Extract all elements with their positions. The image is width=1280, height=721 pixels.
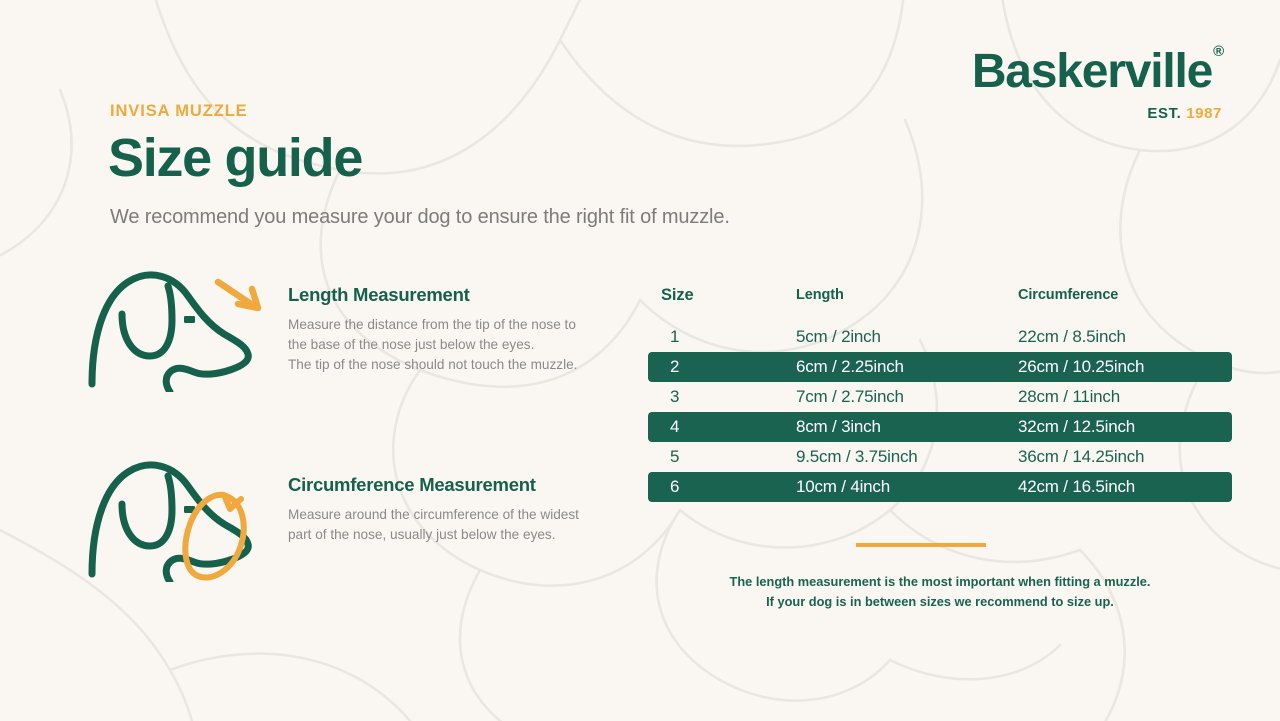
table-cell-text: 6cm / 2.25inch: [796, 357, 904, 376]
measurement-description: Measure the distance from the tip of the…: [288, 315, 633, 375]
table-cell-text: 7cm / 2.75inch: [796, 387, 904, 406]
table-row[interactable]: 2 6cm / 2.25inch 26cm / 10.25inch: [648, 352, 1232, 382]
table-cell-circumference: 32cm / 12.5inch: [1018, 417, 1232, 437]
table-cell-circumference: 36cm / 14.25inch: [1018, 447, 1232, 467]
table-row[interactable]: 4 8cm / 3inch 32cm / 12.5inch: [648, 412, 1232, 442]
measurement-text-circumference: Circumference Measurement Measure around…: [288, 474, 633, 545]
table-cell-text: 5: [670, 447, 679, 466]
table-cell-circumference: 22cm / 8.5inch: [1018, 327, 1232, 347]
table-cell-text: 3: [670, 387, 679, 406]
brand-wordmark-text: Baskerville: [972, 45, 1212, 98]
table-row[interactable]: 6 10cm / 4inch 42cm / 16.5inch: [648, 472, 1232, 502]
table-cell-text: 22cm / 8.5inch: [1018, 327, 1126, 346]
measurement-line: the base of the nose just below the eyes…: [288, 335, 633, 355]
table-cell-text: 28cm / 11inch: [1018, 387, 1120, 406]
table-cell-length: 10cm / 4inch: [796, 477, 1018, 497]
table-cell-text: 4: [670, 417, 679, 436]
footer-divider: [856, 543, 986, 547]
size-table: Size Length Circumference 1 5cm / 2inch …: [648, 282, 1232, 502]
table-cell-text: 5cm / 2inch: [796, 327, 881, 346]
table-cell-length: 7cm / 2.75inch: [796, 387, 1018, 407]
brand-established-year: 1987: [1186, 105, 1222, 122]
table-cell-size: 3: [648, 387, 796, 407]
table-header-cell-circumference: Circumference: [1018, 286, 1232, 304]
table-cell-text: 26cm / 10.25inch: [1018, 357, 1144, 376]
table-cell-text: 8cm / 3inch: [796, 417, 881, 436]
page-title: Size guide: [108, 128, 362, 188]
product-eyebrow: INVISA MUZZLE: [110, 102, 248, 121]
table-header-label: Circumference: [1018, 287, 1118, 303]
measurement-heading: Circumference Measurement: [288, 474, 633, 496]
table-cell-text: 42cm / 16.5inch: [1018, 477, 1135, 496]
table-row[interactable]: 1 5cm / 2inch 22cm / 8.5inch: [648, 322, 1232, 352]
dog-head-arrow-icon: [78, 262, 278, 392]
table-cell-length: 8cm / 3inch: [796, 417, 1018, 437]
brand-wordmark: Baskerville®: [972, 48, 1222, 96]
table-cell-size: 5: [648, 447, 796, 467]
table-row[interactable]: 3 7cm / 2.75inch 28cm / 11inch: [648, 382, 1232, 412]
table-cell-text: 1: [670, 327, 679, 346]
table-cell-circumference: 28cm / 11inch: [1018, 387, 1232, 407]
dog-eye-icon: [184, 316, 195, 323]
table-cell-size: 6: [648, 477, 796, 497]
measurement-text-length: Length Measurement Measure the distance …: [288, 284, 633, 375]
footer-note-line: If your dog is in between sizes we recom…: [640, 592, 1240, 612]
dog-head-loop-icon: [78, 452, 278, 582]
table-cell-size: 2: [648, 357, 796, 377]
page-subtitle: We recommend you measure your dog to ens…: [110, 206, 730, 229]
table-cell-circumference: 42cm / 16.5inch: [1018, 477, 1232, 497]
length-arrow-icon: [218, 282, 258, 308]
measurement-line: part of the nose, usually just below the…: [288, 525, 633, 545]
measurement-line: Measure the distance from the tip of the…: [288, 315, 633, 335]
table-header-cell-length: Length: [796, 286, 1018, 304]
measurement-heading: Length Measurement: [288, 284, 633, 306]
table-header-label: Size: [661, 286, 694, 304]
measurement-description: Measure around the circumference of the …: [288, 505, 633, 545]
table-cell-length: 9.5cm / 3.75inch: [796, 447, 1018, 467]
table-cell-text: 10cm / 4inch: [796, 477, 890, 496]
brand-established-prefix: EST.: [1147, 105, 1186, 122]
table-cell-size: 1: [648, 327, 796, 347]
table-cell-text: 2: [670, 357, 679, 376]
table-row[interactable]: 5 9.5cm / 3.75inch 36cm / 14.25inch: [648, 442, 1232, 472]
measurement-line: The tip of the nose should not touch the…: [288, 355, 633, 375]
table-cell-size: 4: [648, 417, 796, 437]
brand-established: EST. 1987: [972, 105, 1222, 122]
table-header-label: Length: [796, 287, 844, 303]
table-cell-circumference: 26cm / 10.25inch: [1018, 357, 1232, 377]
brand-logo: Baskerville® EST. 1987: [972, 48, 1222, 122]
measurement-line: Measure around the circumference of the …: [288, 505, 633, 525]
table-cell-length: 6cm / 2.25inch: [796, 357, 1018, 377]
table-header-row: Size Length Circumference: [648, 282, 1232, 308]
table-cell-length: 5cm / 2inch: [796, 327, 1018, 347]
size-guide-page: Baskerville® EST. 1987 INVISA MUZZLE Siz…: [0, 0, 1280, 721]
table-cell-text: 32cm / 12.5inch: [1018, 417, 1135, 436]
table-cell-text: 6: [670, 477, 679, 496]
table-cell-text: 9.5cm / 3.75inch: [796, 447, 918, 466]
footer-note-line: The length measurement is the most impor…: [640, 572, 1240, 592]
table-header-cell-size: Size: [648, 286, 796, 305]
footer-note: The length measurement is the most impor…: [640, 572, 1240, 612]
registered-trademark-icon: ®: [1213, 43, 1223, 60]
table-cell-text: 36cm / 14.25inch: [1018, 447, 1144, 466]
